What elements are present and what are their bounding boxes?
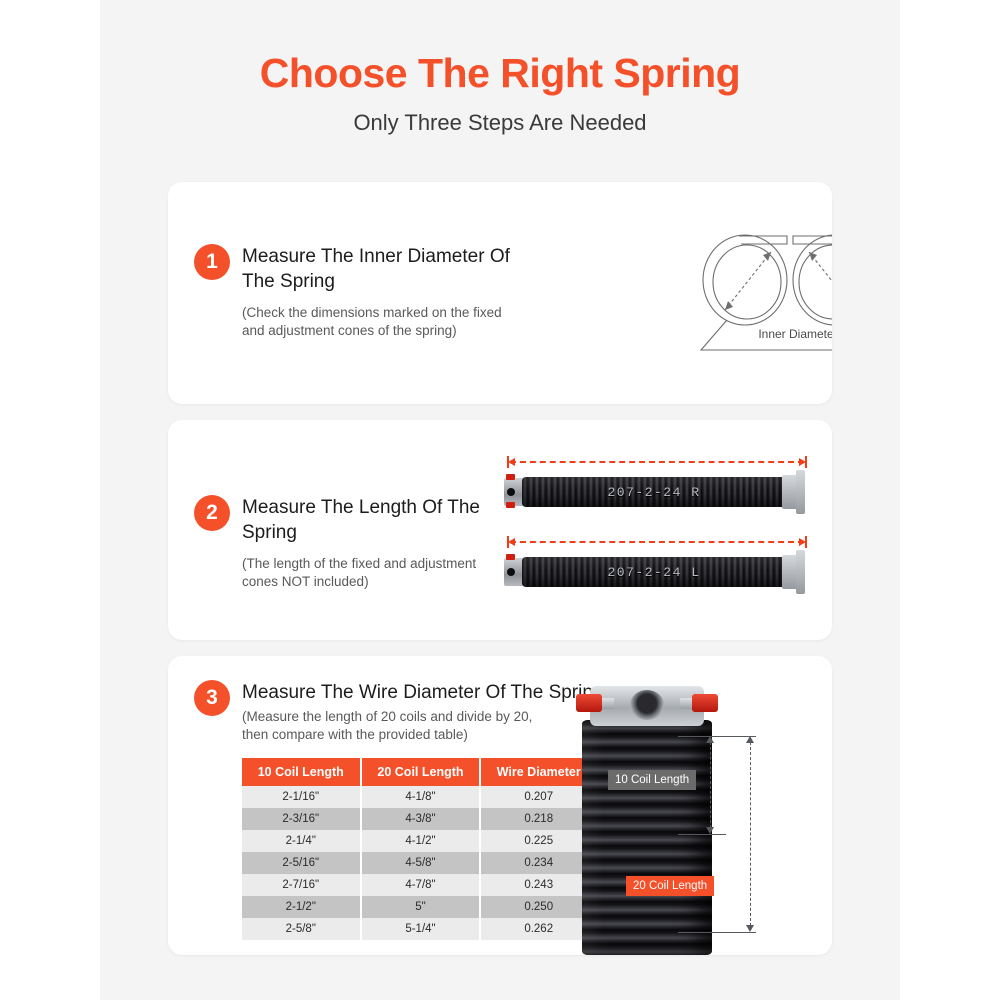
spring-cone-hole-l bbox=[507, 568, 515, 576]
table-cell: 4-3/8" bbox=[361, 808, 481, 830]
step-card-1: 1 Measure The Inner Diameter Of The Spri… bbox=[168, 182, 832, 404]
spring-red-mark-top-l bbox=[506, 554, 515, 560]
table-header-row: 10 Coil Length 20 Coil Length Wire Diame… bbox=[242, 758, 596, 786]
table-header-cell: 20 Coil Length bbox=[361, 758, 481, 786]
step-number-badge-1: 1 bbox=[194, 244, 230, 280]
inner-diameter-label: Inner Diameter bbox=[683, 327, 832, 341]
step-number-badge-3: 3 bbox=[194, 680, 230, 716]
table-row: 2-5/8" 5-1/4" 0.262 bbox=[242, 918, 596, 940]
inner-diameter-diagram: Inner Diameter bbox=[683, 222, 832, 362]
ten-coil-dimension-line bbox=[710, 742, 711, 828]
step-card-2: 2 Measure The Length Of The Spring (The … bbox=[168, 420, 832, 640]
step-title-1: Measure The Inner Diameter Of The Spring bbox=[242, 244, 512, 294]
table-cell: 2-3/16" bbox=[242, 808, 361, 830]
ten-coil-arrow-up bbox=[706, 736, 714, 743]
table-cell: 4-7/8" bbox=[361, 874, 481, 896]
step-note-3: (Measure the length of 20 coils and divi… bbox=[242, 708, 542, 744]
spring-red-mark-top-r bbox=[506, 474, 515, 480]
spring-red-mark-bottom-r bbox=[506, 502, 515, 508]
step-note-2: (The length of the fixed and adjustment … bbox=[242, 555, 497, 591]
page-title: Choose The Right Spring bbox=[100, 50, 900, 97]
table-cell: 5" bbox=[361, 896, 481, 918]
length-dimension-line-right bbox=[504, 456, 810, 468]
twenty-coil-dimension-line bbox=[750, 742, 751, 926]
table-row: 2-5/16" 4-5/8" 0.234 bbox=[242, 852, 596, 874]
table-row: 2-3/16" 4-3/8" 0.218 bbox=[242, 808, 596, 830]
ten-coil-length-label: 10 Coil Length bbox=[608, 770, 696, 790]
spring-flange-right-r bbox=[796, 470, 805, 514]
step-title-2: Measure The Length Of The Spring bbox=[242, 495, 492, 545]
table-cell: 2-5/8" bbox=[242, 918, 361, 940]
table-row: 2-1/16" 4-1/8" 0.207 bbox=[242, 786, 596, 808]
twenty-coil-arrow-up bbox=[746, 736, 754, 743]
coil-measurement-photo: 10 Coil Length 20 Coil Length bbox=[568, 674, 832, 955]
step-card-3: 3 Measure The Wire Diameter Of The Sprin… bbox=[168, 656, 832, 955]
fitting-red-cap-right bbox=[692, 694, 718, 712]
spring-cone-hole-r bbox=[507, 488, 515, 496]
wire-diameter-table: 10 Coil Length 20 Coil Length Wire Diame… bbox=[242, 758, 596, 940]
tick-top bbox=[678, 736, 756, 737]
table-cell: 2-7/16" bbox=[242, 874, 361, 896]
table-cell: 2-1/4" bbox=[242, 830, 361, 852]
spring-illustration-right: 207-2-24 R bbox=[504, 456, 810, 518]
tick-mid bbox=[678, 834, 726, 835]
spring-flange-right-l bbox=[796, 550, 805, 594]
page-subtitle: Only Three Steps Are Needed bbox=[100, 110, 900, 136]
table-cell: 4-1/2" bbox=[361, 830, 481, 852]
page-background: Choose The Right Spring Only Three Steps… bbox=[100, 0, 900, 1000]
table-cell: 4-5/8" bbox=[361, 852, 481, 874]
spring-illustration-left: 207-2-24 L bbox=[504, 536, 810, 598]
step-note-1: (Check the dimensions marked on the fixe… bbox=[242, 304, 504, 340]
twenty-coil-length-label: 20 Coil Length bbox=[626, 876, 714, 896]
table-row: 2-1/2" 5" 0.250 bbox=[242, 896, 596, 918]
fitting-center-bore bbox=[630, 690, 664, 720]
table-cell: 2-5/16" bbox=[242, 852, 361, 874]
spring-code-left: 207-2-24 L bbox=[522, 565, 786, 580]
spring-code-right: 207-2-24 R bbox=[522, 485, 786, 500]
fitting-red-cap-left bbox=[576, 694, 602, 712]
table-cell: 4-1/8" bbox=[361, 786, 481, 808]
table-cell: 5-1/4" bbox=[361, 918, 481, 940]
table-row: 2-7/16" 4-7/8" 0.243 bbox=[242, 874, 596, 896]
spring-coil-stack bbox=[582, 720, 712, 955]
length-dimension-line-left bbox=[504, 536, 810, 548]
table-header-cell: 10 Coil Length bbox=[242, 758, 361, 786]
table-cell: 2-1/2" bbox=[242, 896, 361, 918]
twenty-coil-arrow-down bbox=[746, 925, 754, 932]
ten-coil-arrow-down bbox=[706, 827, 714, 834]
step-number-badge-2: 2 bbox=[194, 495, 230, 531]
inner-diameter-svg bbox=[683, 222, 832, 362]
table-cell: 2-1/16" bbox=[242, 786, 361, 808]
tick-bottom bbox=[678, 932, 756, 933]
spring-end-fitting bbox=[576, 682, 718, 734]
table-row: 2-1/4" 4-1/2" 0.225 bbox=[242, 830, 596, 852]
